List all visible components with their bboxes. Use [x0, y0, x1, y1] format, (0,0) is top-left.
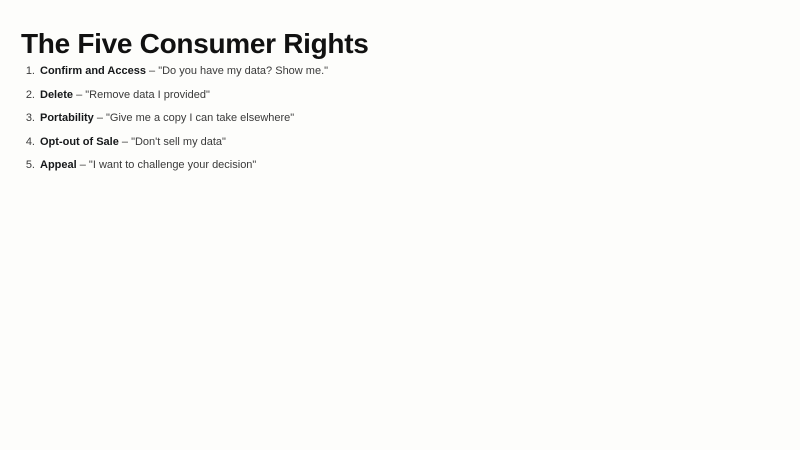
list-item-quote: "Don't sell my data"	[131, 136, 226, 148]
list-item-body: Portability – "Give me a copy I can take…	[40, 111, 442, 126]
list-item-number: 5.	[22, 158, 35, 173]
list-item-label: Portability	[40, 112, 94, 124]
list-item-body: Confirm and Access – "Do you have my dat…	[40, 64, 442, 79]
list-item: 2. Delete – "Remove data I provided"	[22, 88, 442, 103]
list-item-quote: "Remove data I provided"	[85, 89, 210, 101]
list-item-number: 3.	[22, 111, 35, 126]
list-item-quote: "Give me a copy I can take elsewhere"	[106, 112, 294, 124]
list-item: 3. Portability – "Give me a copy I can t…	[22, 111, 442, 126]
list-item-dash: –	[73, 89, 85, 101]
list-item-label: Appeal	[40, 159, 77, 171]
slide-canvas: The Five Consumer Rights 1. Confirm and …	[0, 0, 800, 450]
list-item-body: Appeal – "I want to challenge your decis…	[40, 158, 442, 173]
list-item: 1. Confirm and Access – "Do you have my …	[22, 64, 442, 79]
list-item-label: Opt-out of Sale	[40, 136, 119, 148]
empty-content-area	[0, 210, 800, 450]
list-item-body: Delete – "Remove data I provided"	[40, 88, 442, 103]
list-item-number: 2.	[22, 88, 35, 103]
list-item-dash: –	[119, 136, 131, 148]
list-item-number: 1.	[22, 64, 35, 79]
list-item-quote: "I want to challenge your decision"	[89, 159, 256, 171]
list-item-label: Delete	[40, 89, 73, 101]
list-item-label: Confirm and Access	[40, 65, 146, 77]
list-item-dash: –	[146, 65, 158, 77]
list-item-body: Opt-out of Sale – "Don't sell my data"	[40, 135, 442, 150]
list-item: 5. Appeal – "I want to challenge your de…	[22, 158, 442, 173]
list-item-number: 4.	[22, 135, 35, 150]
list-item-quote: "Do you have my data? Show me."	[158, 65, 328, 77]
list-item: 4. Opt-out of Sale – "Don't sell my data…	[22, 135, 442, 150]
list-item-dash: –	[77, 159, 89, 171]
consumer-rights-list: 1. Confirm and Access – "Do you have my …	[22, 64, 442, 173]
list-item-dash: –	[94, 112, 106, 124]
page-title: The Five Consumer Rights	[21, 28, 369, 60]
